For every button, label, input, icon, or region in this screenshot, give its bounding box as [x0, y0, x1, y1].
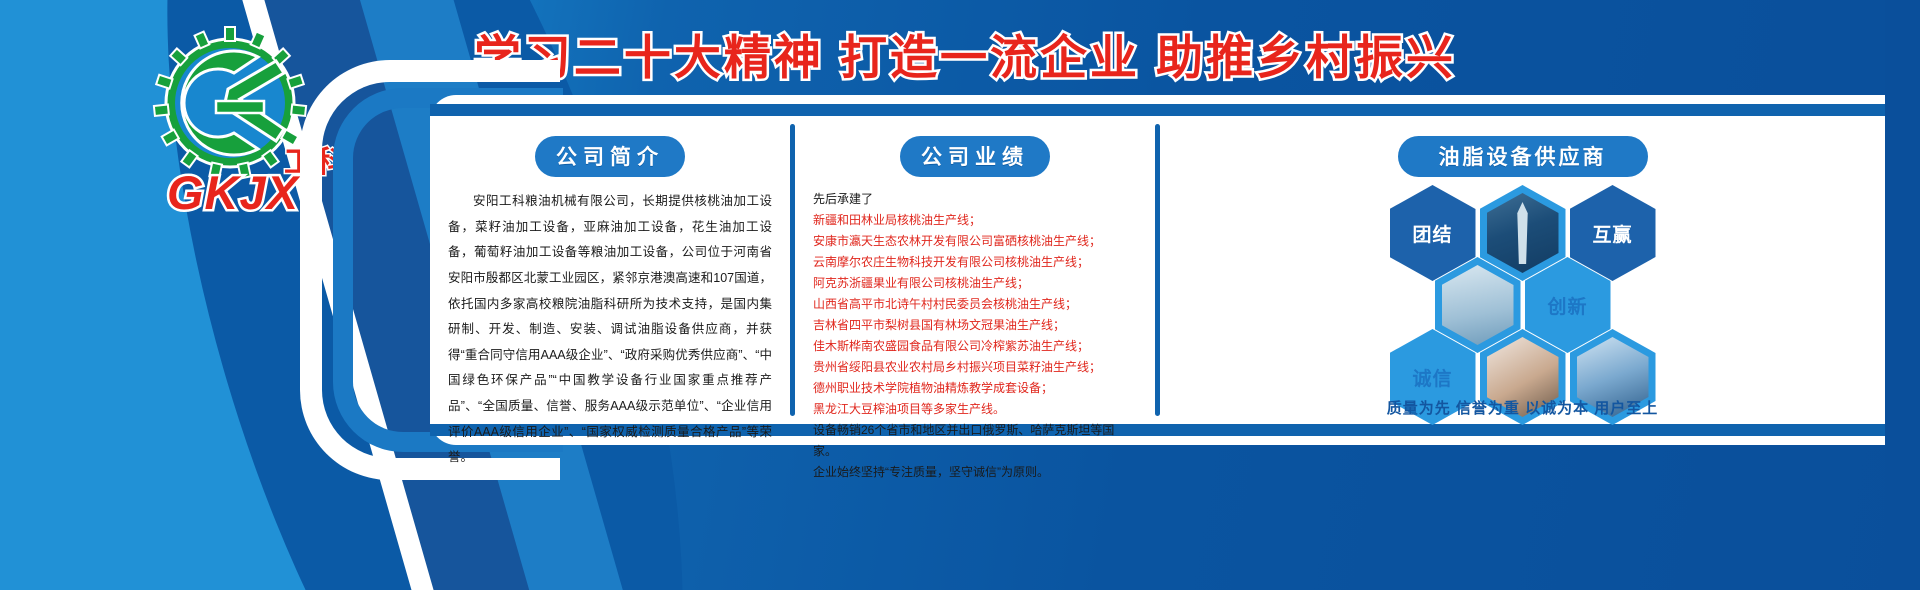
list-item: 云南摩尔农庄生物科技开发有限公司核桃油生产线； — [813, 252, 1137, 273]
panel-intro-body-text: 安阳工科粮油机械有限公司，长期提供核桃油加工设备，菜籽油加工设备，亚麻油加工设备… — [448, 189, 772, 471]
panels-container: 公司简介 安阳工科粮油机械有限公司，长期提供核桃油加工设备，菜籽油加工设备，亚麻… — [430, 116, 1885, 424]
performance-lead: 先后承建了 — [813, 189, 1137, 210]
list-item: 黑龙江大豆榨油项目等多家生产线。 — [813, 399, 1137, 420]
hexagon-cluster: 团结 互赢 创新 诚信 — [1178, 185, 1867, 385]
panel-supplier-title: 油脂设备供应商 — [1398, 136, 1648, 177]
hex-label-tuanjie: 团结 — [1412, 220, 1452, 247]
panel-performance-title: 公司业绩 — [900, 136, 1050, 177]
success-sky-photo-icon — [1442, 265, 1514, 345]
list-item: 贵州省绥阳县农业农村局乡村振兴项目菜籽油生产线； — [813, 357, 1137, 378]
list-item: 阿克苏浙疆果业有限公司核桃油生产线； — [813, 273, 1137, 294]
hex-label-chengxin: 诚信 — [1412, 364, 1452, 391]
list-item: 佳木斯桦南农盛园食品有限公司冷榨紫苏油生产线； — [813, 336, 1137, 357]
panel-company-performance: 公司业绩 先后承建了 新疆和田林业局核桃油生产线；安康市瀛天生态农林开发有限公司… — [795, 116, 1155, 424]
page-title-text: 学习二十大精神 打造一流企业 助推乡村振兴 — [474, 19, 1456, 88]
list-item: 德州职业技术学院植物油精炼教学成套设备； — [813, 378, 1137, 399]
performance-tail-2: 企业始终坚持“专注质量，坚守诚信”为原则。 — [813, 462, 1137, 483]
list-item: 新疆和田林业局核桃油生产线； — [813, 210, 1137, 231]
poster-canvas: 工科 GKJX 学习二十大精神 打造一流企业 助推乡村振兴 公司简介 安阳工科粮… — [0, 0, 1920, 590]
aircraft-carrier-photo-icon — [1487, 193, 1559, 273]
panel-supplier: 油脂设备供应商 团结 互赢 创新 诚信 — [1160, 116, 1885, 424]
hex-label-chuangxin: 创新 — [1547, 292, 1587, 319]
panel-intro-title: 公司简介 — [535, 136, 685, 177]
list-item: 吉林省四平市梨树县国有林场文冠果油生产线； — [813, 315, 1137, 336]
panel-company-intro: 公司简介 安阳工科粮油机械有限公司，长期提供核桃油加工设备，菜籽油加工设备，亚麻… — [430, 116, 790, 424]
page-title: 学习二十大精神 打造一流企业 助推乡村振兴 — [420, 22, 1510, 84]
supplier-slogan: 质量为先 信誉为重 以诚为本 用户至上 — [1160, 397, 1885, 418]
right-edge-strip — [1885, 0, 1920, 590]
hex-label-huying: 互赢 — [1592, 220, 1632, 247]
list-item: 安康市瀛天生态农林开发有限公司富硒核桃油生产线； — [813, 231, 1137, 252]
panel-intro-body: 安阳工科粮油机械有限公司，长期提供核桃油加工设备，菜籽油加工设备，亚麻油加工设备… — [448, 189, 772, 471]
performance-tail-1: 设备畅销26个省市和地区并出口俄罗斯、哈萨克斯坦等国家。 — [813, 420, 1137, 462]
performance-project-list: 新疆和田林业局核桃油生产线；安康市瀛天生态农林开发有限公司富硒核桃油生产线；云南… — [813, 210, 1137, 420]
frame-top-band — [430, 104, 1885, 116]
list-item: 山西省高平市北诗午村村民委员会核桃油生产线； — [813, 294, 1137, 315]
